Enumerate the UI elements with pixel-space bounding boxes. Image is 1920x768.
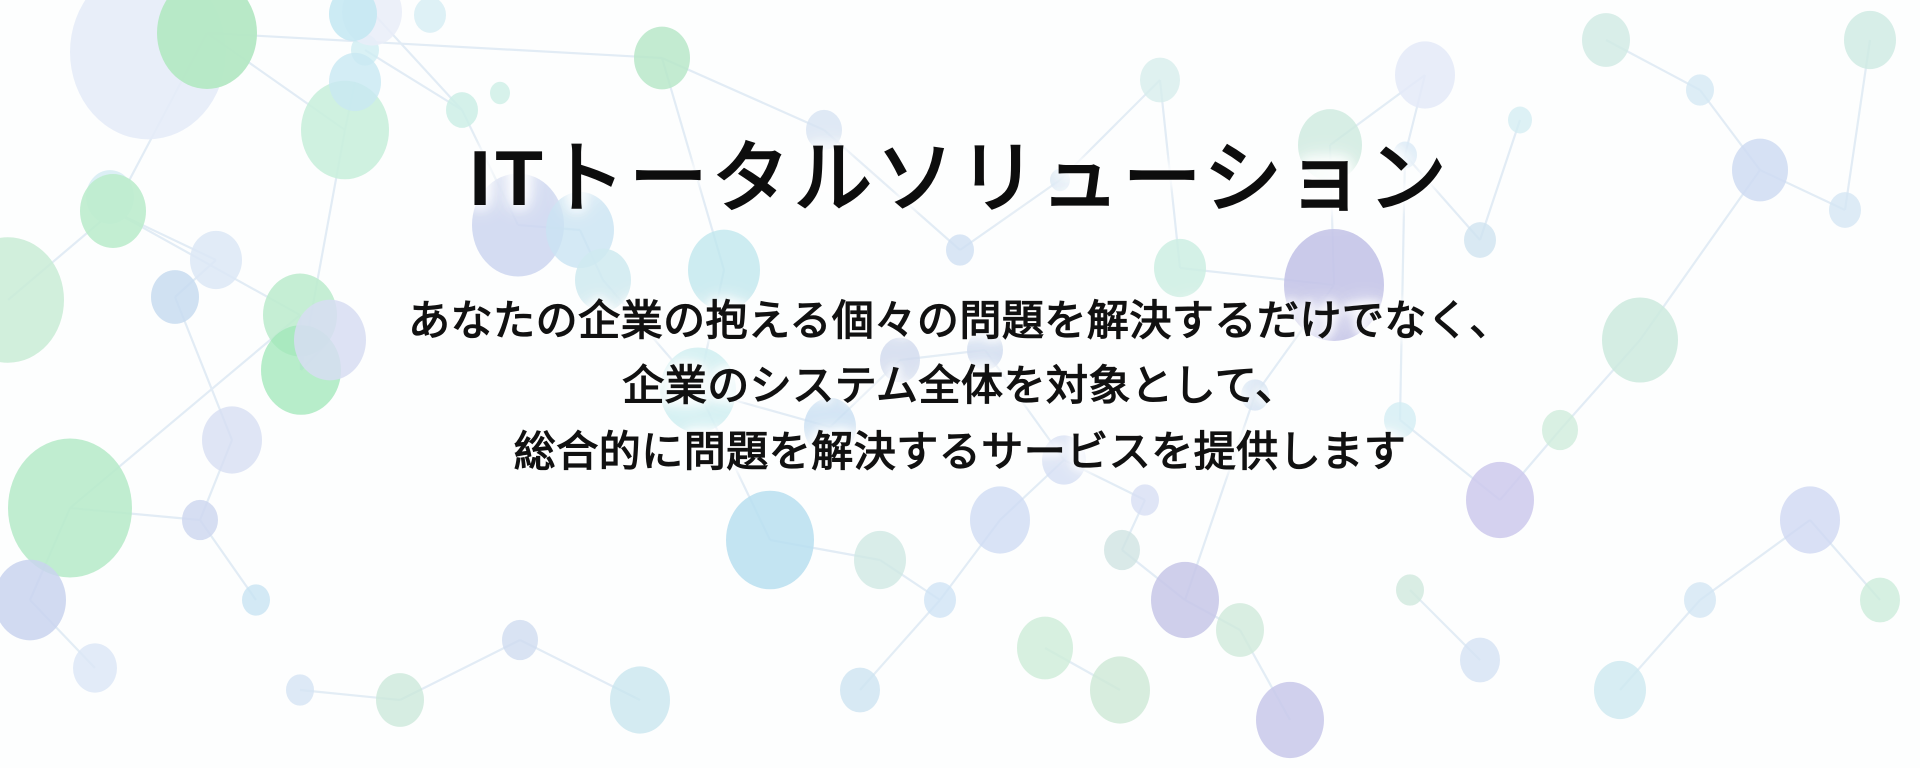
- hero-subtitle: あなたの企業の抱える個々の問題を解決するだけでなく、 企業のシステム全体を対象と…: [408, 296, 1512, 477]
- page-title: ITトータルソリューション: [469, 138, 1451, 220]
- subtitle-line-3: 総合的に問題を解決するサービスを提供します: [514, 427, 1407, 477]
- subtitle-line-1: あなたの企業の抱える個々の問題を解決するだけでなく、: [408, 296, 1512, 346]
- hero-content: ITトータルソリューション あなたの企業の抱える個々の問題を解決するだけでなく、…: [0, 0, 1920, 768]
- hero-banner: ITトータルソリューション あなたの企業の抱える個々の問題を解決するだけでなく、…: [0, 0, 1920, 768]
- subtitle-line-2: 企業のシステム全体を対象として、: [622, 361, 1297, 411]
